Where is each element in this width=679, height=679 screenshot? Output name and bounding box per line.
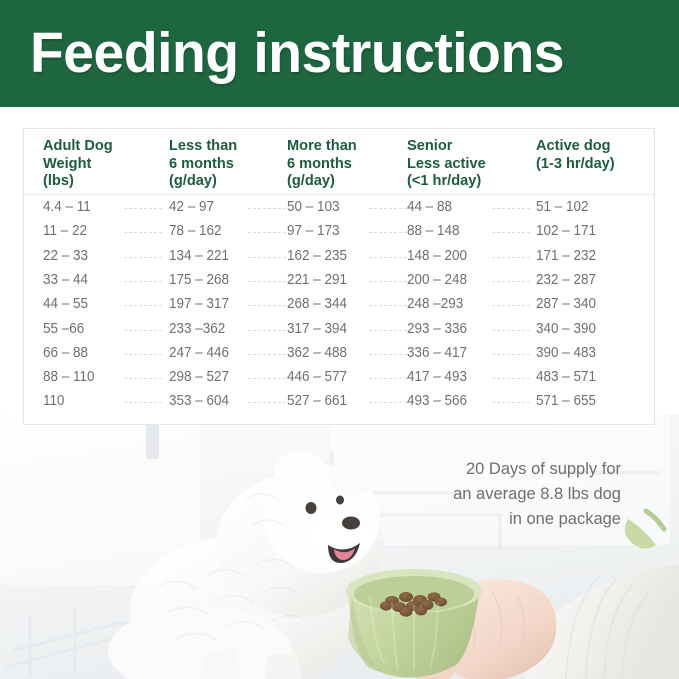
column-leader-dots — [124, 354, 162, 355]
cell-senior-less-active: 200 – 248 — [407, 268, 467, 292]
column-header-adult-dog-weight: Adult Dog Weight (lbs) — [43, 138, 113, 191]
column-leader-dots — [248, 354, 286, 355]
column-leader-dots — [492, 257, 530, 258]
column-leader-dots — [369, 330, 407, 331]
cell-adult-dog-weight: 55 –66 — [43, 317, 84, 341]
cell-active-dog: 232 – 287 — [536, 268, 596, 292]
column-leader-dots — [248, 232, 286, 233]
cell-senior-less-active: 44 – 88 — [407, 195, 452, 219]
table-row: 44 – 55197 – 317268 – 344248 –293287 – 3… — [24, 292, 654, 316]
cell-less-than-6-months: 197 – 317 — [169, 292, 229, 316]
cell-adult-dog-weight: 88 – 110 — [43, 365, 94, 389]
column-leader-dots — [492, 232, 530, 233]
cell-senior-less-active: 336 – 417 — [407, 341, 467, 365]
column-leader-dots — [369, 257, 407, 258]
table-row: 110353 – 604527 – 661 493 – 566571 – 655 — [24, 389, 654, 413]
column-leader-dots — [369, 378, 407, 379]
table-row: 4.4 – 1142 – 9750 – 10344 – 8851 – 102 — [24, 195, 654, 219]
cell-active-dog: 171 – 232 — [536, 244, 596, 268]
column-leader-dots — [492, 305, 530, 306]
cell-less-than-6-months: 134 – 221 — [169, 244, 229, 268]
cell-less-than-6-months: 175 – 268 — [169, 268, 229, 292]
column-leader-dots — [369, 354, 407, 355]
cell-more-than-6-months: 97 – 173 — [287, 219, 340, 243]
cell-adult-dog-weight: 11 – 22 — [43, 219, 87, 243]
cell-less-than-6-months: 78 – 162 — [169, 219, 222, 243]
column-leader-dots — [492, 281, 530, 282]
cell-adult-dog-weight: 4.4 – 11 — [43, 195, 91, 219]
column-header-senior: Senior Less active (<1 hr/day) — [407, 138, 486, 191]
cell-less-than-6-months: 233 –362 — [169, 317, 225, 341]
cell-active-dog: 571 – 655 — [536, 389, 596, 413]
column-leader-dots — [124, 378, 162, 379]
cell-active-dog: 340 – 390 — [536, 317, 596, 341]
cell-more-than-6-months: 317 – 394 — [287, 317, 347, 341]
cell-adult-dog-weight: 44 – 55 — [43, 292, 88, 316]
table-header-row: Adult Dog Weight (lbs) Less than 6 month… — [24, 129, 654, 195]
cell-more-than-6-months: 446 – 577 — [287, 365, 347, 389]
cell-active-dog: 51 – 102 — [536, 195, 589, 219]
column-leader-dots — [492, 330, 530, 331]
cell-more-than-6-months: 50 – 103 — [287, 195, 340, 219]
table-body: 4.4 – 1142 – 9750 – 10344 – 8851 – 10211… — [24, 195, 654, 423]
cell-less-than-6-months: 247 – 446 — [169, 341, 229, 365]
cell-more-than-6-months: 268 – 344 — [287, 292, 347, 316]
table-row: 22 – 33134 – 221162 – 235148 – 200171 – … — [24, 244, 654, 268]
column-leader-dots — [248, 257, 286, 258]
cell-senior-less-active: 248 –293 — [407, 292, 463, 316]
column-leader-dots — [124, 257, 162, 258]
column-leader-dots — [124, 402, 162, 403]
table-row: 55 –66233 –362317 – 394293 – 336340 – 39… — [24, 317, 654, 341]
cell-senior-less-active: 88 – 148 — [407, 219, 460, 243]
cell-active-dog: 287 – 340 — [536, 292, 596, 316]
cell-senior-less-active: 417 – 493 — [407, 365, 467, 389]
column-leader-dots — [124, 305, 162, 306]
cell-adult-dog-weight: 110 — [43, 389, 65, 413]
cell-adult-dog-weight: 33 – 44 — [43, 268, 88, 292]
column-leader-dots — [369, 281, 407, 282]
column-leader-dots — [248, 402, 286, 403]
cell-less-than-6-months: 42 – 97 — [169, 195, 214, 219]
supply-note: 20 Days of supply for an average 8.8 lbs… — [361, 457, 621, 532]
column-leader-dots — [369, 402, 407, 403]
column-leader-dots — [492, 208, 530, 209]
column-leader-dots — [492, 402, 530, 403]
table-row: 66 – 88247 – 446362 – 488336 – 417390 – … — [24, 341, 654, 365]
cell-senior-less-active: 148 – 200 — [407, 244, 467, 268]
cell-adult-dog-weight: 66 – 88 — [43, 341, 88, 365]
table-row: 11 – 2278 – 16297 – 17388 – 148102 – 171 — [24, 219, 654, 243]
page-title: Feeding instructions — [30, 25, 564, 82]
cell-more-than-6-months: 362 – 488 — [287, 341, 347, 365]
cell-less-than-6-months: 353 – 604 — [169, 389, 229, 413]
column-leader-dots — [369, 208, 407, 209]
column-header-more-than-6-months: More than 6 months (g/day) — [287, 138, 357, 191]
column-leader-dots — [248, 305, 286, 306]
column-leader-dots — [124, 208, 162, 209]
product-photo — [0, 415, 679, 679]
cell-senior-less-active: 493 – 566 — [407, 389, 467, 413]
column-leader-dots — [124, 232, 162, 233]
column-leader-dots — [369, 305, 407, 306]
column-header-less-than-6-months: Less than 6 months (g/day) — [169, 138, 237, 191]
cell-active-dog: 390 – 483 — [536, 341, 596, 365]
column-leader-dots — [248, 378, 286, 379]
cell-adult-dog-weight: 22 – 33 — [43, 244, 88, 268]
column-leader-dots — [248, 208, 286, 209]
header-banner: Feeding instructions — [0, 0, 679, 107]
cell-senior-less-active: 293 – 336 — [407, 317, 467, 341]
cell-active-dog: 483 – 571 — [536, 365, 596, 389]
cell-active-dog: 102 – 171 — [536, 219, 596, 243]
cell-more-than-6-months: 162 – 235 — [287, 244, 347, 268]
column-leader-dots — [248, 330, 286, 331]
feeding-instructions-table: Adult Dog Weight (lbs) Less than 6 month… — [23, 128, 655, 425]
cell-less-than-6-months: 298 – 527 — [169, 365, 229, 389]
column-leader-dots — [248, 281, 286, 282]
cell-more-than-6-months: 527 – 661 — [287, 389, 347, 413]
table-row: 88 – 110298 – 527446 – 577417 – 493483 –… — [24, 365, 654, 389]
column-leader-dots — [369, 232, 407, 233]
table-row: 33 – 44175 – 268221 – 291200 – 248232 – … — [24, 268, 654, 292]
column-leader-dots — [124, 330, 162, 331]
column-leader-dots — [492, 354, 530, 355]
column-leader-dots — [124, 281, 162, 282]
column-header-active-dog: Active dog (1-3 hr/day) — [536, 138, 615, 173]
column-leader-dots — [492, 378, 530, 379]
cell-more-than-6-months: 221 – 291 — [287, 268, 347, 292]
